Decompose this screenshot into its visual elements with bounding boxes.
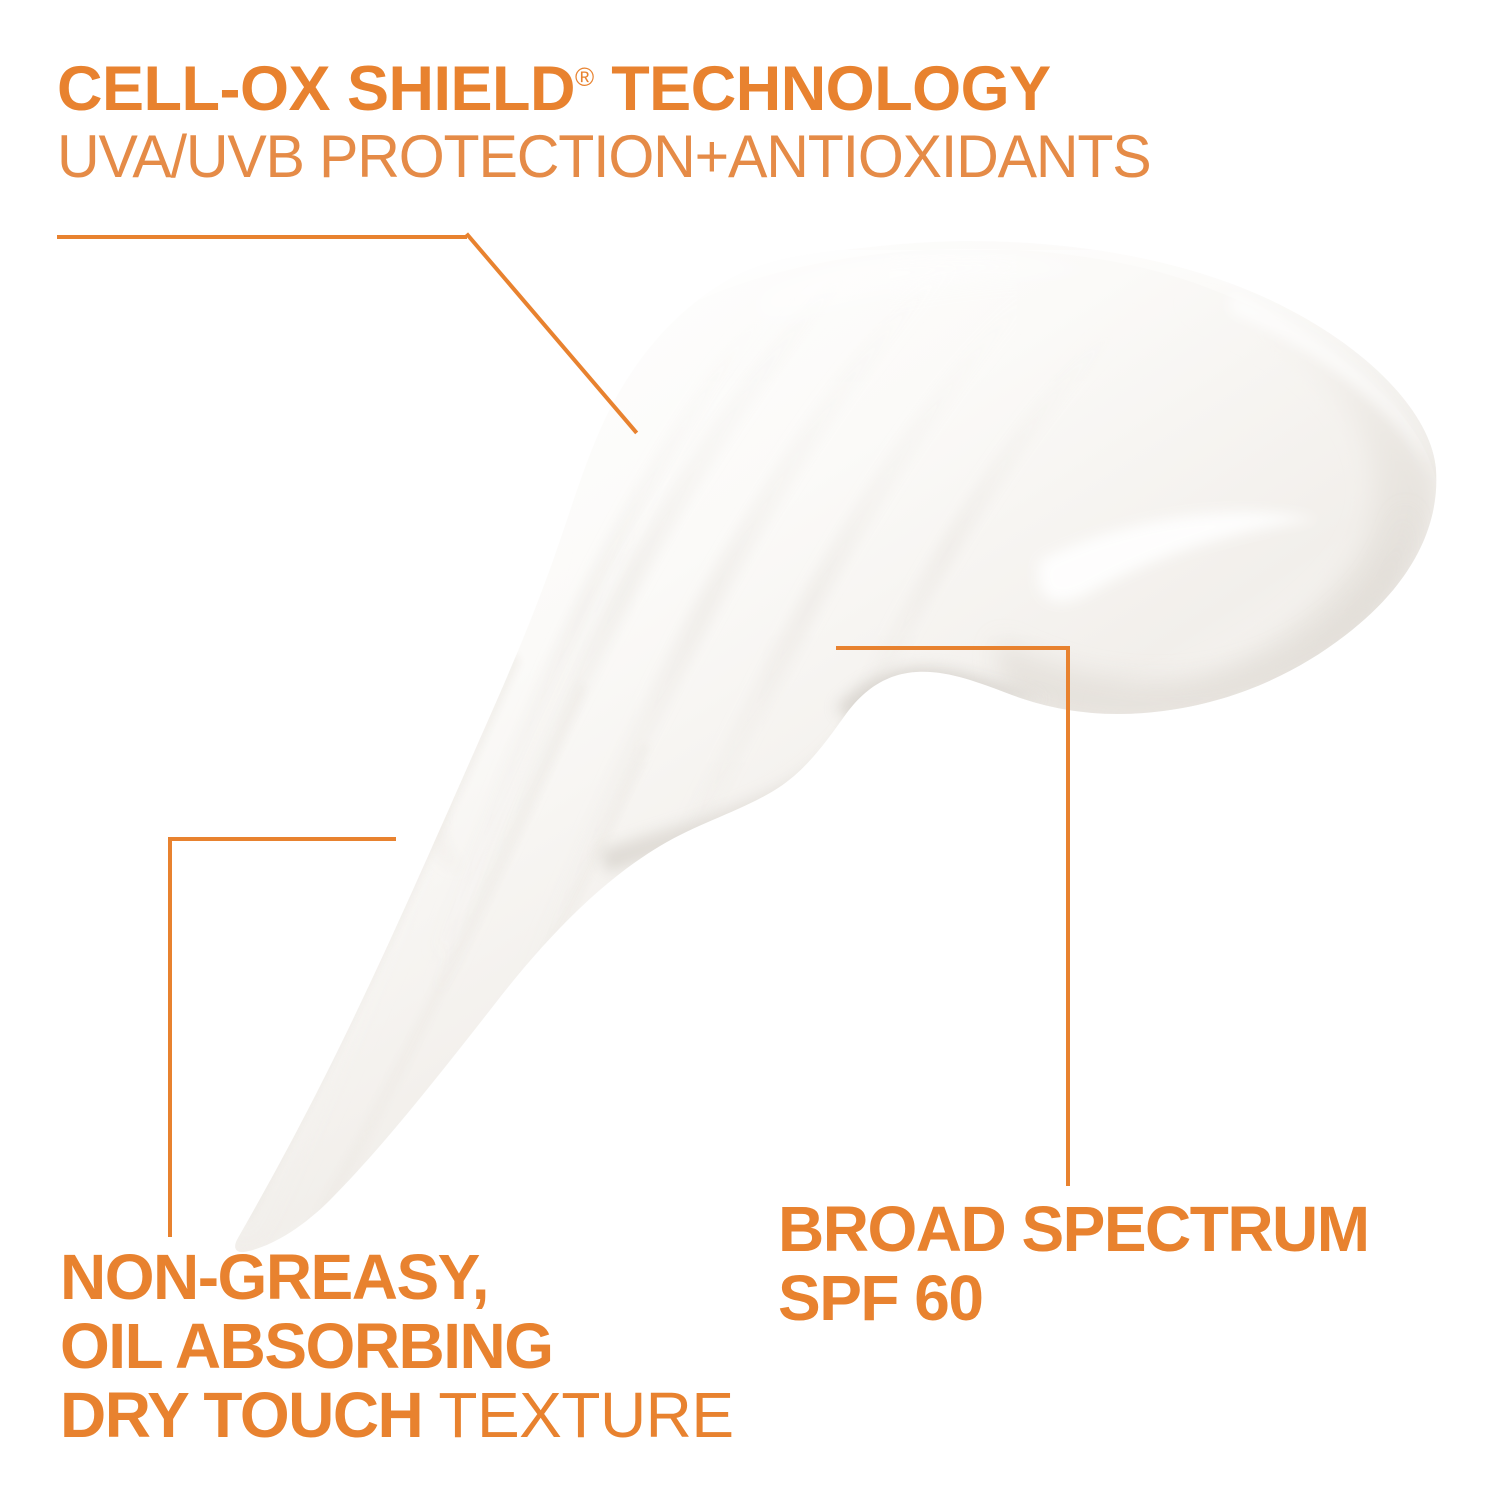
callout-texture-line-1-bold: NON-GREASY, [60, 1241, 488, 1313]
headline-primary-suffix: TECHNOLOGY [594, 54, 1051, 124]
callout-texture-line-3-bold: DRY TOUCH [60, 1379, 422, 1451]
callout-spf: BROAD SPECTRUM SPF 60 [778, 1195, 1478, 1333]
callout-texture-line-1: NON-GREASY, [60, 1243, 880, 1312]
headline-primary: CELL-OX SHIELD® TECHNOLOGY [57, 44, 1457, 122]
headline-block: CELL-OX SHIELD® TECHNOLOGY UVA/UVB PROTE… [57, 44, 1457, 190]
texture-leader-horizontal [168, 837, 396, 841]
headline-primary-prefix: CELL-OX SHIELD [57, 54, 575, 124]
cell-ox-shield-leader-horizontal [57, 235, 467, 239]
cell-ox-shield-leader-diagonal [465, 232, 638, 434]
broad-spectrum-leader-horizontal [836, 646, 1070, 650]
callout-spf-line-1: BROAD SPECTRUM [778, 1195, 1478, 1264]
callout-texture-line-3-light: TEXTURE [422, 1379, 733, 1451]
callout-texture-line-2-bold: OIL ABSORBING [60, 1310, 553, 1382]
headline-secondary: UVA/UVB PROTECTION+ANTIOXIDANTS [57, 124, 1436, 190]
texture-leader-vertical [168, 837, 172, 1237]
callout-spf-line-2: SPF 60 [778, 1264, 1478, 1333]
registered-trademark-icon: ® [575, 62, 594, 92]
callout-texture: NON-GREASY, OIL ABSORBING DRY TOUCH TEXT… [60, 1243, 880, 1450]
broad-spectrum-leader-vertical [1066, 646, 1070, 1186]
product-infographic: CELL-OX SHIELD® TECHNOLOGY UVA/UVB PROTE… [0, 0, 1500, 1500]
callout-texture-line-2: OIL ABSORBING [60, 1312, 880, 1381]
swatch-body [232, 180, 1470, 1260]
callout-texture-line-3: DRY TOUCH TEXTURE [60, 1381, 880, 1450]
